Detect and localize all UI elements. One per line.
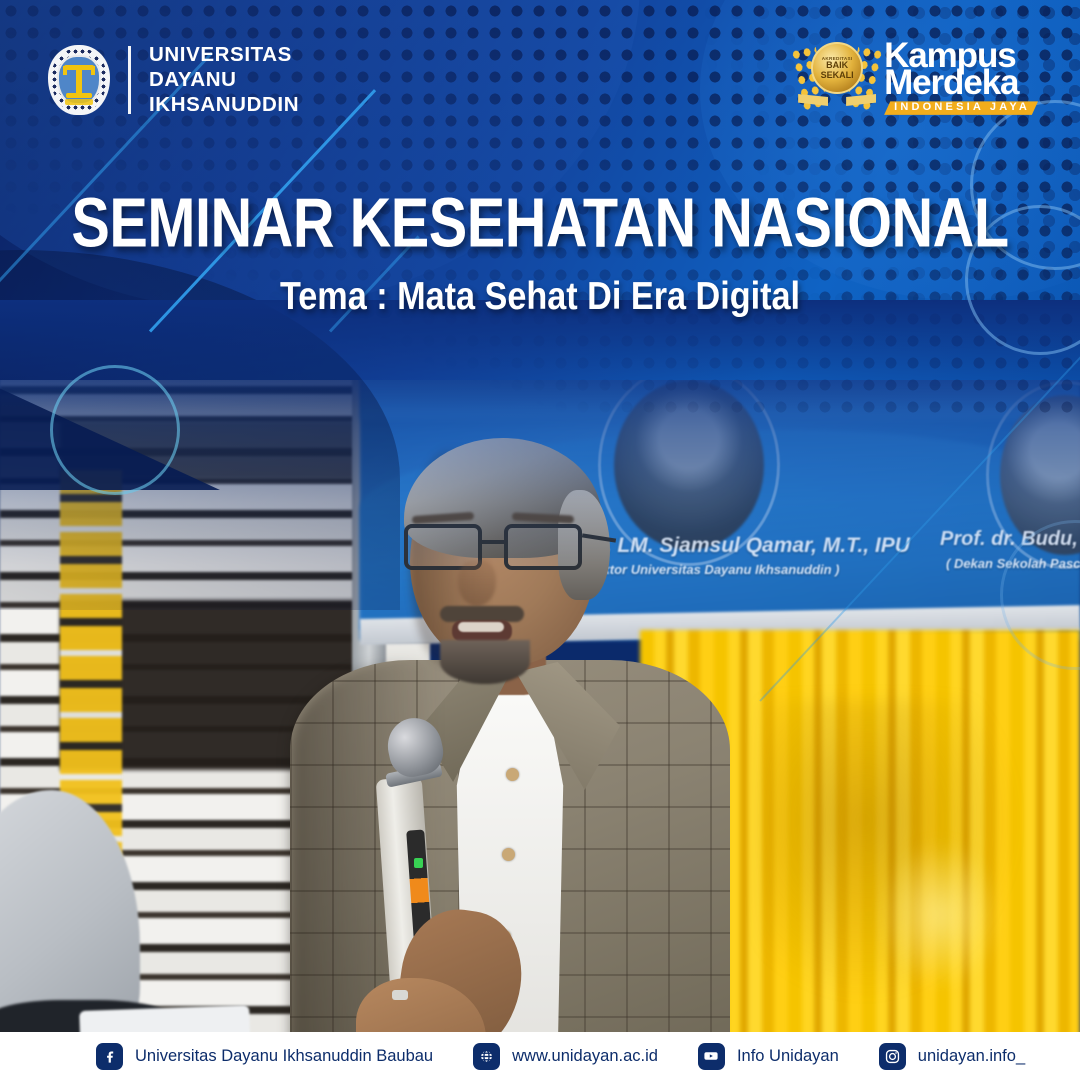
footer-item-instagram[interactable]: unidayan.info_ <box>879 1043 1025 1070</box>
eyeglass-temple <box>582 533 616 542</box>
footer-item-website[interactable]: www.unidayan.ac.id <box>473 1043 658 1070</box>
footer-bar: Universitas Dayanu Ikhsanuddin Baubau ww… <box>0 1032 1080 1080</box>
footer-label-facebook: Universitas Dayanu Ikhsanuddin Baubau <box>135 1047 433 1066</box>
akreditasi-badge: AKREDITASI BAIK SEKALI <box>796 38 878 118</box>
university-brand-lockup: UNIVERSITAS DAYANU IKHSANUDDIN <box>48 42 299 117</box>
kampus-merdeka-word2: Merdeka <box>884 68 1038 98</box>
instagram-icon <box>879 1043 906 1070</box>
university-name: UNIVERSITAS DAYANU IKHSANUDDIN <box>149 42 299 117</box>
footer-label-instagram: unidayan.info_ <box>918 1047 1025 1066</box>
speaker-finger-ring <box>392 990 408 1000</box>
youtube-icon <box>698 1043 725 1070</box>
footer-label-website: www.unidayan.ac.id <box>512 1047 658 1066</box>
decorative-circle <box>50 365 180 495</box>
speaker-eyeglasses <box>400 524 600 572</box>
footer-item-youtube[interactable]: Info Unidayan <box>698 1043 839 1070</box>
eyeglass-lens-right <box>504 524 582 570</box>
poster-canvas: Ir. H. LM. Sjamsul Qamar, M.T., IPU ( Re… <box>0 0 1080 1080</box>
eyeglass-bridge <box>482 540 504 544</box>
brand-divider <box>128 46 131 114</box>
event-theme: Tema : Mata Sehat Di Era Digital <box>27 273 1053 318</box>
speaker-teeth <box>458 622 504 632</box>
kampus-merdeka-wordmark: Kampus Merdeka INDONESIA JAYA <box>884 41 1038 115</box>
speaker-shirt-button <box>502 848 515 861</box>
globe-icon <box>473 1043 500 1070</box>
unidayan-crest-logo <box>48 45 110 115</box>
event-title: SEMINAR KESEHATAN NASIONAL <box>38 184 1042 264</box>
footer-label-youtube: Info Unidayan <box>737 1047 839 1066</box>
facebook-icon <box>96 1043 123 1070</box>
badge-medal: AKREDITASI BAIK SEKALI <box>811 42 863 94</box>
title-block: SEMINAR KESEHATAN NASIONAL Tema : Mata S… <box>0 188 1080 317</box>
kampus-merdeka-lockup: AKREDITASI BAIK SEKALI Kampus Merdeka IN… <box>796 38 1038 118</box>
microphone-led-green <box>414 858 423 868</box>
speaker-shirt-button <box>506 768 519 781</box>
speaker-goatee <box>440 640 530 684</box>
footer-item-facebook[interactable]: Universitas Dayanu Ikhsanuddin Baubau <box>96 1043 433 1070</box>
curtain-highlight <box>880 840 1000 990</box>
badge-line2: SEKALI <box>821 71 854 80</box>
kampus-merdeka-tagline: INDONESIA JAYA <box>884 101 1038 114</box>
speaker-nose <box>458 560 496 606</box>
university-name-line3: IKHSANUDDIN <box>149 92 299 117</box>
university-name-line1: UNIVERSITAS <box>149 42 299 67</box>
university-name-line2: DAYANU <box>149 67 299 92</box>
